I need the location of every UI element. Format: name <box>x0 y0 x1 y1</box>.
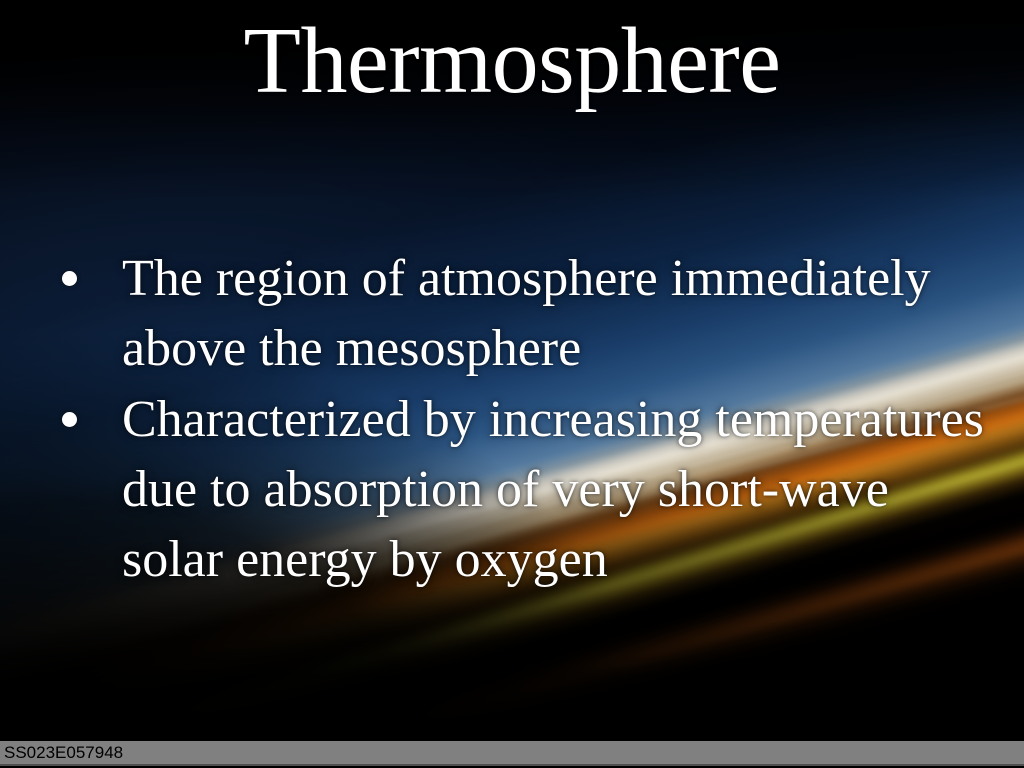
slide-title: Thermosphere <box>0 14 1024 110</box>
bullet-item-text: Characterized by increasing temperatures… <box>122 385 986 595</box>
bullet-item-text: The region of atmosphere immediately abo… <box>122 244 986 384</box>
presentation-slide: Thermosphere The region of atmosphere im… <box>0 0 1024 768</box>
bullet-point-icon <box>62 271 77 286</box>
bullet-item: The region of atmosphere immediately abo… <box>46 244 986 384</box>
bullet-point-icon <box>62 412 77 427</box>
bullet-list: The region of atmosphere immediately abo… <box>46 244 986 596</box>
photo-id-label: SS023E057948 <box>4 742 123 764</box>
photo-credit-bar <box>0 741 1024 766</box>
slide-content: Thermosphere The region of atmosphere im… <box>0 0 1024 768</box>
bullet-item: Characterized by increasing temperatures… <box>46 385 986 595</box>
